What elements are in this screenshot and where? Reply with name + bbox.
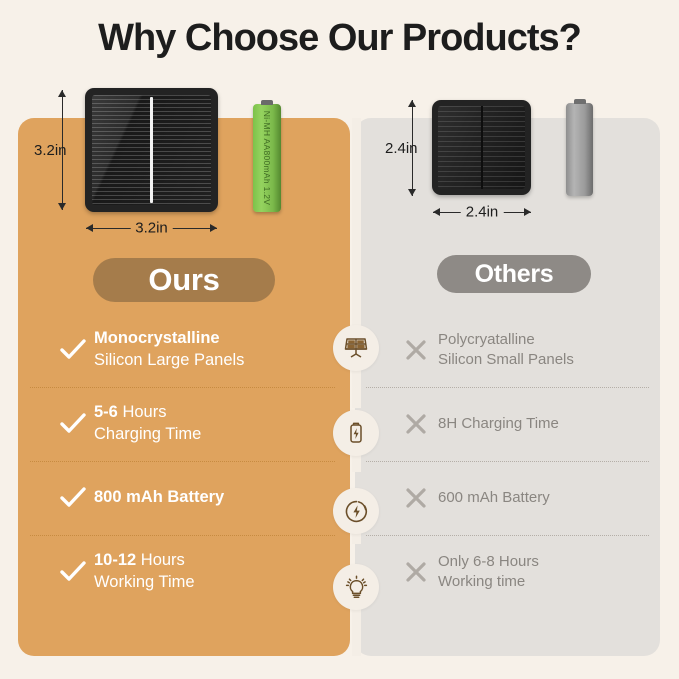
ours-feature-4: 10-12 Hours Working Time bbox=[60, 535, 330, 609]
ours-feature-2-line2: Charging Time bbox=[94, 425, 201, 443]
cross-icon bbox=[404, 560, 438, 584]
others-feature-4-line2: Working time bbox=[438, 572, 539, 592]
ours-feature-3-text: 800 mAh Battery bbox=[94, 487, 224, 509]
feature-row: 5-6 Hours Charging Time 8H Charging Time bbox=[0, 387, 679, 461]
infographic-root: Why Choose Our Products? 3.2in 3.2in bbox=[0, 0, 679, 679]
others-feature-4: Only 6-8 Hours Working time bbox=[404, 535, 654, 609]
others-feature-2-text: 8H Charging Time bbox=[438, 414, 559, 434]
others-badge-label: Others bbox=[475, 260, 554, 289]
ours-feature-2-line1: Hours bbox=[118, 403, 167, 421]
others-feature-1-line1: Polycryatalline bbox=[438, 330, 574, 350]
check-icon bbox=[60, 561, 94, 583]
ours-feature-3-line1: mAh Battery bbox=[122, 488, 225, 506]
battery-terminal bbox=[574, 99, 586, 104]
others-feature-2-line1: 8H Charging Time bbox=[438, 414, 559, 434]
cross-icon bbox=[404, 486, 438, 510]
ours-feature-4-value: 10-12 bbox=[94, 551, 136, 569]
cross-icon bbox=[404, 338, 438, 362]
ours-badge-label: Ours bbox=[148, 262, 219, 298]
ours-feature-1: Monocrystalline Silicon Large Panels bbox=[60, 313, 330, 387]
battery-terminal bbox=[261, 100, 273, 105]
others-feature-4-text: Only 6-8 Hours Working time bbox=[438, 552, 539, 592]
ours-feature-2: 5-6 Hours Charging Time bbox=[60, 387, 330, 461]
feature-row: 10-12 Hours Working Time Only 6-8 Hours … bbox=[0, 535, 679, 609]
feature-row: Monocrystalline Silicon Large Panels Pol… bbox=[0, 313, 679, 387]
ours-feature-1-text: Monocrystalline Silicon Large Panels bbox=[94, 328, 244, 372]
ours-feature-4-text: 10-12 Hours Working Time bbox=[94, 550, 195, 594]
ours-feature-2-text: 5-6 Hours Charging Time bbox=[94, 402, 201, 446]
arrow-head-up bbox=[58, 90, 66, 97]
ours-feature-3-value: 800 bbox=[94, 488, 122, 506]
others-feature-4-line1: Only 6-8 Hours bbox=[438, 552, 539, 572]
cross-icon bbox=[404, 412, 438, 436]
others-feature-2: 8H Charging Time bbox=[404, 387, 654, 461]
ours-feature-1-line2: Silicon Large Panels bbox=[94, 351, 244, 369]
ours-feature-3: 800 mAh Battery bbox=[60, 461, 330, 535]
others-feature-1: Polycryatalline Silicon Small Panels bbox=[404, 313, 654, 387]
others-badge: Others bbox=[437, 255, 591, 293]
others-feature-3: 600 mAh Battery bbox=[404, 461, 654, 535]
ours-feature-2-value: 5-6 bbox=[94, 403, 118, 421]
check-icon bbox=[60, 487, 94, 509]
ours-badge: Ours bbox=[93, 258, 275, 302]
feature-rows: Monocrystalline Silicon Large Panels Pol… bbox=[0, 313, 679, 609]
feature-row: 800 mAh Battery 600 mAh Battery bbox=[0, 461, 679, 535]
others-feature-1-text: Polycryatalline Silicon Small Panels bbox=[438, 330, 574, 370]
check-icon bbox=[60, 413, 94, 435]
check-icon bbox=[60, 339, 94, 361]
arrow-head-up bbox=[408, 100, 416, 107]
ours-feature-1-line1: Monocrystalline bbox=[94, 329, 220, 347]
ours-feature-4-line1: Hours bbox=[136, 551, 185, 569]
others-feature-3-text: 600 mAh Battery bbox=[438, 488, 550, 508]
others-feature-3-line1: 600 mAh Battery bbox=[438, 488, 550, 508]
page-title: Why Choose Our Products? bbox=[0, 17, 679, 60]
others-feature-1-line2: Silicon Small Panels bbox=[438, 350, 574, 370]
ours-feature-4-line2: Working Time bbox=[94, 573, 195, 591]
